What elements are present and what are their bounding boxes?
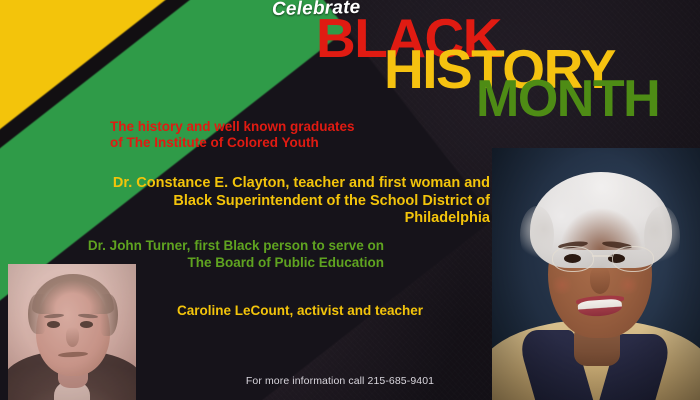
clayton-vignette	[492, 148, 700, 400]
text-intro: The history and well known graduates of …	[110, 119, 490, 151]
portrait-john-turner	[8, 264, 136, 400]
text-caroline-lecount: Caroline LeCount, activist and teacher	[110, 303, 490, 318]
turner-sepia-tone	[8, 264, 136, 400]
text-constance-clayton: Dr. Constance E. Clayton, teacher and fi…	[92, 175, 490, 228]
contact-block: For more information call 215-685-9401 P…	[190, 362, 490, 400]
contact-phone-line: For more information call 215-685-9401	[190, 375, 490, 388]
black-history-month-poster: Celebrate BLACK HISTORY MONTH The histor…	[0, 0, 700, 400]
portrait-constance-clayton	[492, 148, 700, 400]
